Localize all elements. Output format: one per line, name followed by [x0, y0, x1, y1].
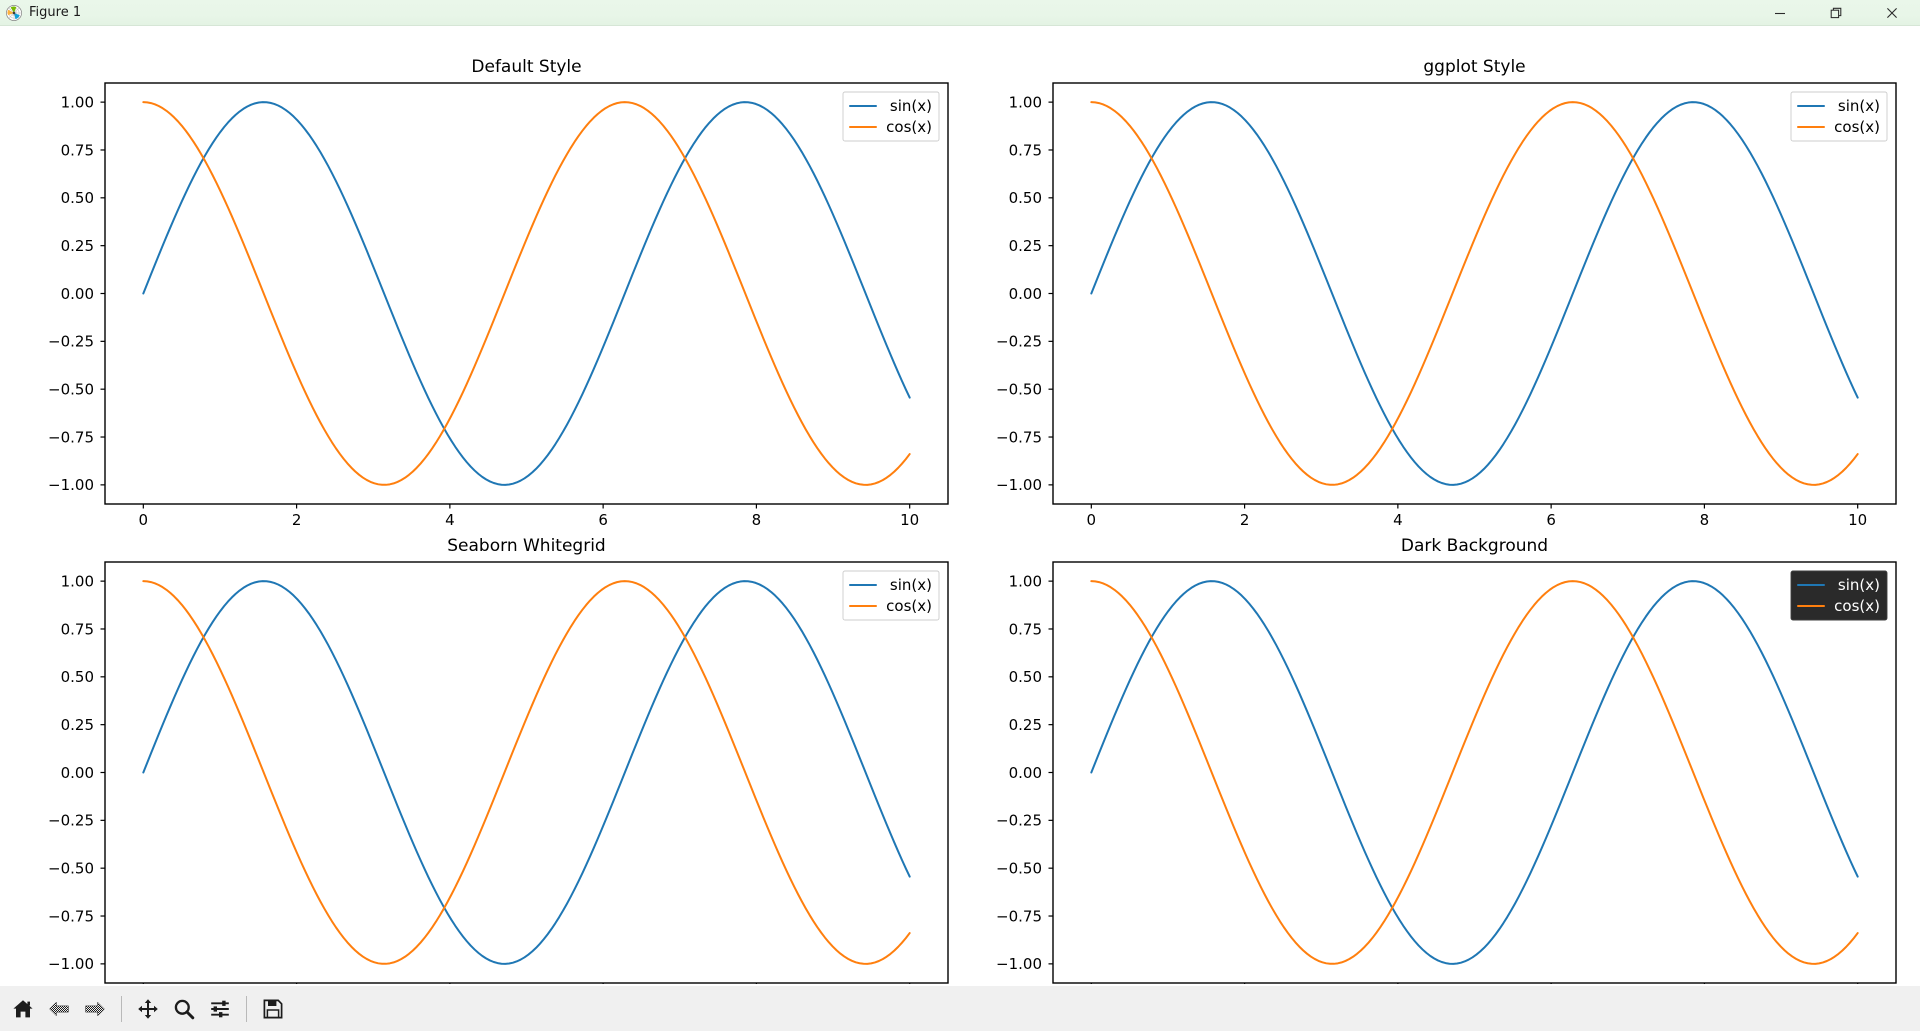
y-tick-label: −1.00	[48, 955, 94, 973]
legend[interactable]: sin(x)cos(x)	[843, 92, 939, 141]
y-tick-label: −0.25	[996, 333, 1042, 351]
magnifier-icon	[173, 998, 195, 1020]
y-tick-label: 0.00	[61, 285, 94, 303]
x-tick-label: 4	[1393, 511, 1403, 529]
pan-button[interactable]	[131, 992, 165, 1026]
x-tick-label: 0	[139, 511, 149, 529]
maximize-button[interactable]	[1808, 0, 1864, 26]
minimize-button[interactable]	[1752, 0, 1808, 26]
pan-move-icon	[137, 998, 159, 1020]
axes-background	[105, 562, 948, 983]
legend[interactable]: sin(x)cos(x)	[1791, 92, 1887, 141]
legend-label-cos: cos(x)	[886, 597, 932, 615]
y-tick-label: 0.00	[1009, 764, 1042, 782]
axes-title: Dark Background	[1401, 536, 1548, 556]
y-tick-label: −1.00	[996, 476, 1042, 494]
y-tick-label: 1.00	[61, 572, 94, 590]
y-tick-label: −0.75	[48, 428, 94, 446]
legend-label-cos: cos(x)	[1834, 118, 1880, 136]
close-icon	[1886, 7, 1898, 19]
axes-ggplot-style[interactable]: ggplot Style02468101.000.750.500.250.00−…	[996, 57, 1896, 529]
y-tick-label: −0.75	[48, 907, 94, 925]
zoom-button[interactable]	[167, 992, 201, 1026]
y-tick-label: 0.00	[61, 764, 94, 782]
y-tick-label: 1.00	[1009, 93, 1042, 111]
legend[interactable]: sin(x)cos(x)	[843, 571, 939, 620]
minimize-icon	[1774, 7, 1786, 19]
figure-window: Figure 1 D	[0, 0, 1920, 1031]
y-tick-label: 0.75	[1009, 620, 1042, 638]
x-tick-label: 8	[1700, 511, 1710, 529]
axes-title: ggplot Style	[1423, 57, 1525, 77]
y-tick-label: −0.75	[996, 907, 1042, 925]
forward-button[interactable]	[78, 992, 112, 1026]
window-controls	[1752, 0, 1920, 26]
x-tick-label: 6	[598, 511, 608, 529]
y-tick-label: 0.50	[61, 189, 94, 207]
y-tick-label: −0.75	[996, 428, 1042, 446]
y-tick-label: 0.25	[1009, 716, 1042, 734]
x-tick-label: 8	[752, 511, 762, 529]
sliders-icon	[209, 998, 231, 1020]
close-button[interactable]	[1864, 0, 1920, 26]
y-tick-label: 0.50	[61, 668, 94, 686]
axes-seaborn-whitegrid[interactable]: Seaborn Whitegrid02468101.000.750.500.25…	[48, 536, 948, 984]
navigation-toolbar	[0, 985, 1920, 1031]
home-icon	[12, 998, 34, 1020]
y-tick-label: −1.00	[48, 476, 94, 494]
y-tick-label: 0.75	[1009, 141, 1042, 159]
y-tick-label: 1.00	[61, 93, 94, 111]
y-tick-label: −0.50	[48, 380, 94, 398]
axes-dark-background[interactable]: Dark Background02468101.000.750.500.250.…	[996, 536, 1896, 984]
legend-label-sin: sin(x)	[1838, 576, 1880, 594]
x-tick-label: 4	[445, 511, 455, 529]
y-tick-label: 0.75	[61, 141, 94, 159]
window-titlebar: Figure 1	[0, 0, 1920, 26]
legend-label-sin: sin(x)	[890, 97, 932, 115]
figure-svg[interactable]: Default Style02468101.000.750.500.250.00…	[0, 26, 1920, 984]
y-tick-label: 0.50	[1009, 668, 1042, 686]
axes-background	[105, 83, 948, 504]
right-arrow-icon	[84, 998, 106, 1020]
y-tick-label: 0.25	[61, 716, 94, 734]
maximize-icon	[1830, 7, 1842, 19]
toolbar-separator-1	[121, 996, 122, 1022]
x-tick-label: 6	[1546, 511, 1556, 529]
y-tick-label: 0.75	[61, 620, 94, 638]
y-tick-label: −0.50	[48, 859, 94, 877]
legend[interactable]: sin(x)cos(x)	[1791, 571, 1887, 620]
axes-default-style[interactable]: Default Style02468101.000.750.500.250.00…	[48, 57, 948, 529]
x-tick-label: 10	[900, 511, 919, 529]
floppy-disk-icon	[262, 998, 284, 1020]
window-title: Figure 1	[29, 0, 81, 26]
y-tick-label: −0.25	[48, 333, 94, 351]
legend-label-sin: sin(x)	[890, 576, 932, 594]
y-tick-label: 0.50	[1009, 189, 1042, 207]
x-tick-label: 10	[1848, 511, 1867, 529]
y-tick-label: −1.00	[996, 955, 1042, 973]
matplotlib-icon	[5, 4, 23, 22]
figure-canvas[interactable]: Default Style02468101.000.750.500.250.00…	[0, 26, 1920, 985]
y-tick-label: 0.25	[1009, 237, 1042, 255]
axes-title: Seaborn Whitegrid	[447, 536, 605, 556]
x-tick-label: 2	[1240, 511, 1250, 529]
home-button[interactable]	[6, 992, 40, 1026]
axes-title: Default Style	[471, 57, 581, 77]
x-tick-label: 0	[1087, 511, 1097, 529]
y-tick-label: 0.25	[61, 237, 94, 255]
y-tick-label: 1.00	[1009, 572, 1042, 590]
toolbar-separator-2	[246, 996, 247, 1022]
legend-label-cos: cos(x)	[1834, 597, 1880, 615]
legend-label-cos: cos(x)	[886, 118, 932, 136]
y-tick-label: −0.25	[48, 812, 94, 830]
y-tick-label: −0.50	[996, 859, 1042, 877]
save-button[interactable]	[256, 992, 290, 1026]
axes-background	[1053, 83, 1896, 504]
y-tick-label: 0.00	[1009, 285, 1042, 303]
back-button[interactable]	[42, 992, 76, 1026]
x-tick-label: 2	[292, 511, 302, 529]
y-tick-label: −0.50	[996, 380, 1042, 398]
axes-background	[1053, 562, 1896, 983]
configure-subplots-button[interactable]	[203, 992, 237, 1026]
y-tick-label: −0.25	[996, 812, 1042, 830]
left-arrow-icon	[48, 998, 70, 1020]
legend-label-sin: sin(x)	[1838, 97, 1880, 115]
